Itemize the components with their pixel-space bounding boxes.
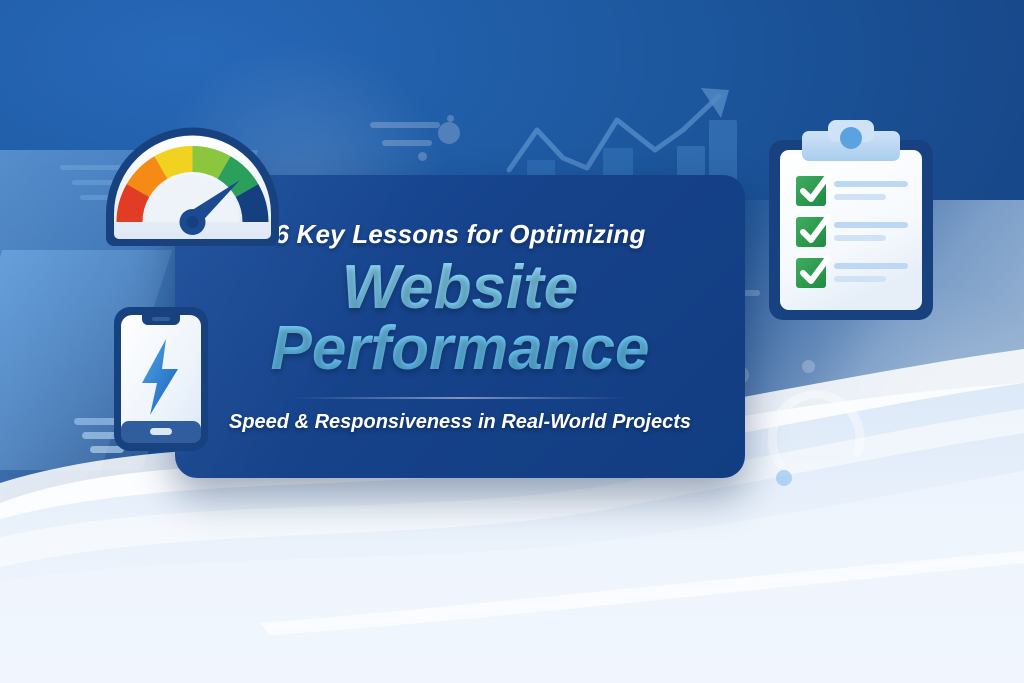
hero-title-line-2: Performance xyxy=(270,319,649,380)
hero-subtitle: Speed & Responsiveness in Real-World Pro… xyxy=(229,411,691,434)
mobile-phone-lightning-icon xyxy=(112,305,210,453)
hero-eyebrow: 6 Key Lessons for Optimizing xyxy=(274,219,645,250)
hero-title-line-1: Website xyxy=(270,258,649,319)
dot-deco xyxy=(438,122,460,144)
hero-divider xyxy=(295,397,625,399)
speed-line-deco xyxy=(382,140,432,146)
hero-banner: 6 Key Lessons for Optimizing Website Per… xyxy=(0,0,1024,683)
hero-title: Website Performance xyxy=(270,258,649,380)
speedometer-gauge-icon xyxy=(100,118,285,246)
dot-deco xyxy=(447,115,454,122)
dot-deco xyxy=(418,152,427,161)
checklist-clipboard-icon xyxy=(756,118,946,323)
speed-line-deco xyxy=(370,122,440,128)
dot-deco xyxy=(776,470,792,486)
